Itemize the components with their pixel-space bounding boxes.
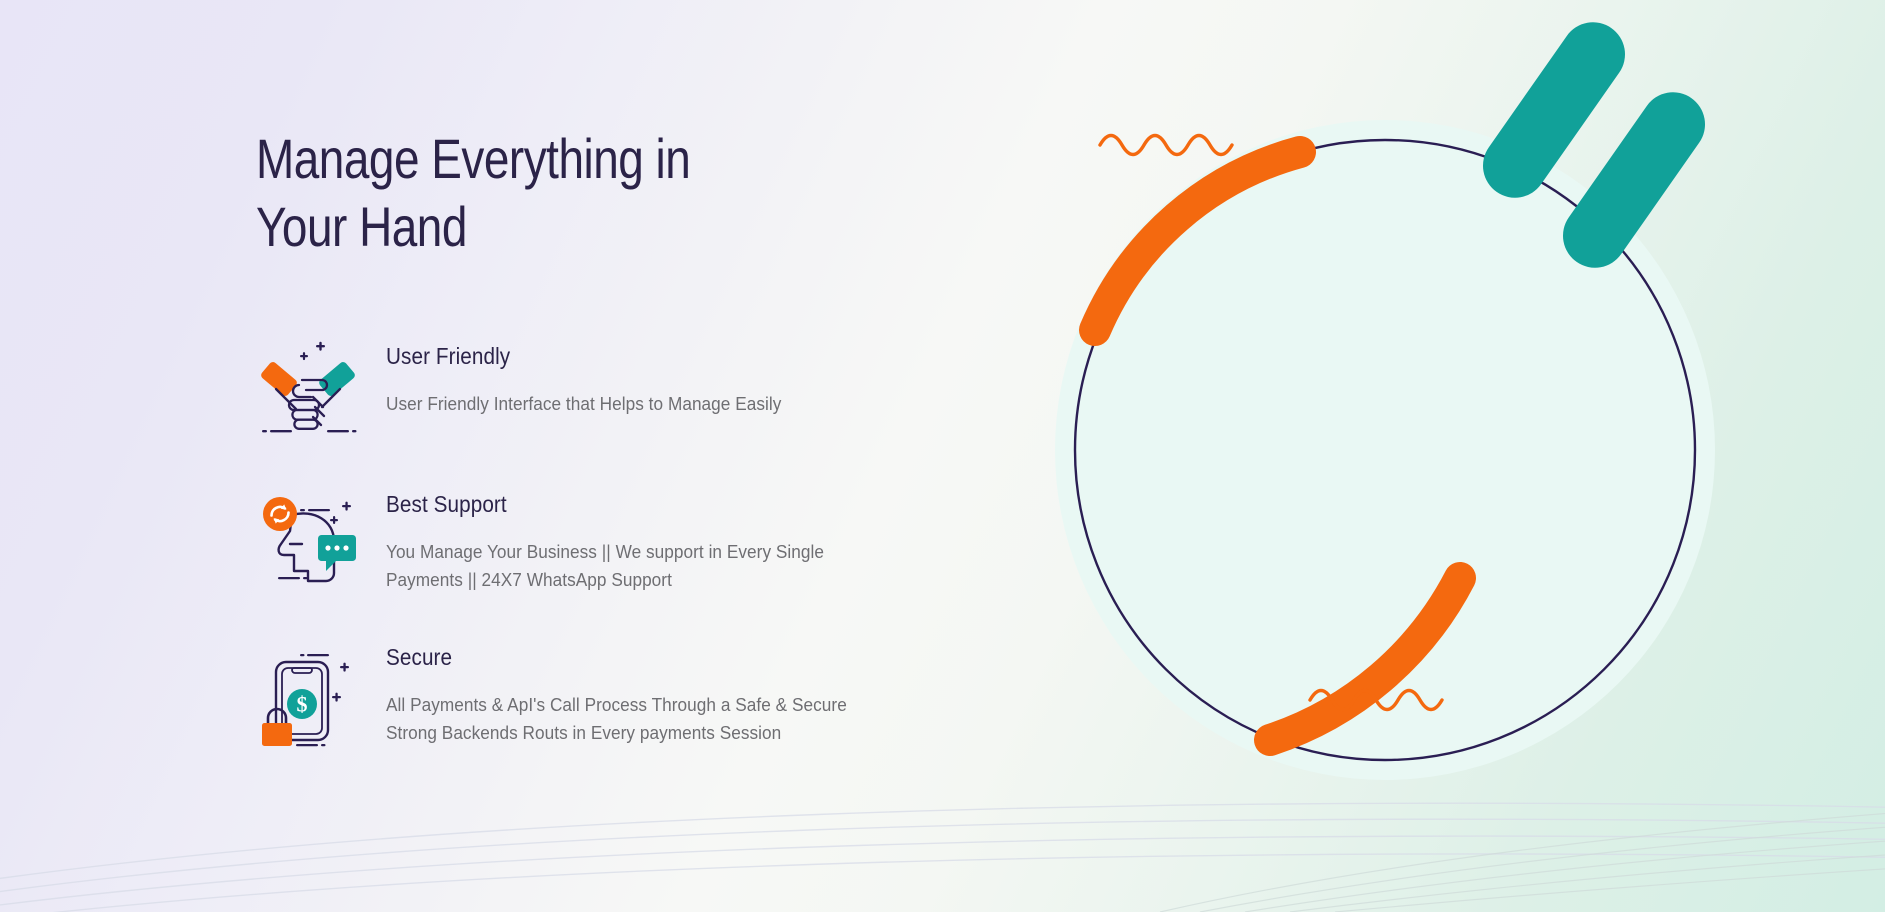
feature-text: Secure All Payments & ApI's Call Process…	[386, 638, 882, 747]
refresh-badge	[263, 497, 297, 531]
decorative-shapes-back	[930, 0, 1885, 912]
hero-section: Manage Everything in Your Hand	[0, 0, 1885, 912]
feature-description: All Payments & ApI's Call Process Throug…	[386, 691, 847, 747]
chat-bubble	[318, 535, 356, 571]
feature-list: User Friendly User Friendly Interface th…	[256, 337, 946, 748]
hero-illustration	[930, 0, 1885, 912]
secure-phone-lock-icon: $	[256, 644, 360, 748]
feature-item-best-support: Best Support You Manage Your Business ||…	[256, 485, 946, 594]
feature-item-secure: $	[256, 638, 946, 748]
dollar-badge: $	[287, 689, 317, 719]
orange-squiggle-icon-top	[1100, 136, 1232, 155]
page-title: Manage Everything in Your Hand	[256, 125, 822, 262]
svg-text:$: $	[297, 691, 308, 716]
feature-description: You Manage Your Business || We support i…	[386, 538, 824, 594]
handshake-icon	[256, 337, 360, 441]
feature-description: User Friendly Interface that Helps to Ma…	[386, 390, 781, 418]
feature-title: Secure	[386, 644, 832, 671]
feature-item-user-friendly: User Friendly User Friendly Interface th…	[256, 337, 946, 441]
feature-text: User Friendly User Friendly Interface th…	[386, 337, 811, 418]
support-head-chat-icon	[256, 489, 360, 593]
hero-text-column: Manage Everything in Your Hand	[256, 125, 946, 748]
feature-text: Best Support You Manage Your Business ||…	[386, 485, 857, 594]
feature-title: User Friendly	[386, 343, 769, 370]
feature-title: Best Support	[386, 491, 810, 518]
